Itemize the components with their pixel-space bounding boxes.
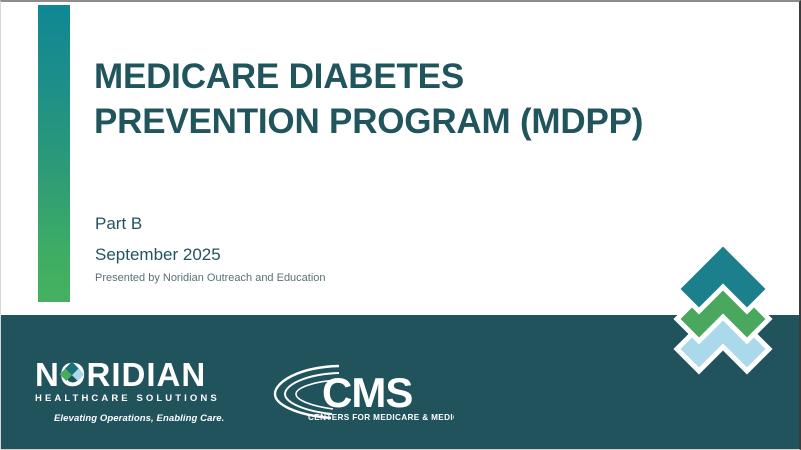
noridian-diamond-mark-icon [59, 360, 86, 389]
subtitle-presenter: Presented by Noridian Outreach and Educa… [95, 271, 615, 285]
subtitle-date: September 2025 [95, 245, 615, 265]
noridian-logo: NORIDIAN HEALTHCARE SOLUTIONS Elevating … [35, 359, 235, 424]
cms-wordmark-text: CMS [322, 369, 412, 416]
subtitle-part: Part B [95, 214, 615, 234]
chevron-stack-icon [673, 235, 773, 377]
noridian-subtitle: HEALTHCARE SOLUTIONS [35, 393, 235, 404]
cms-logo: CMS CENTERS FOR MEDICARE & MEDICAID SERV… [269, 360, 454, 426]
noridian-tagline: Elevating Operations, Enabling Care. [54, 413, 235, 424]
accent-gradient-bar [38, 5, 70, 302]
presentation-slide: MEDICARE DIABETES PREVENTION PROGRAM (MD… [0, 0, 801, 450]
noridian-wordmark: NORIDIAN [35, 359, 231, 390]
title-block: MEDICARE DIABETES PREVENTION PROGRAM (MD… [94, 54, 654, 144]
subtitle-block: Part B September 2025 Presented by Norid… [95, 214, 615, 285]
cms-subtitle-text: CENTERS FOR MEDICARE & MEDICAID SERVICES [308, 413, 454, 422]
page-title: MEDICARE DIABETES PREVENTION PROGRAM (MD… [94, 54, 654, 144]
